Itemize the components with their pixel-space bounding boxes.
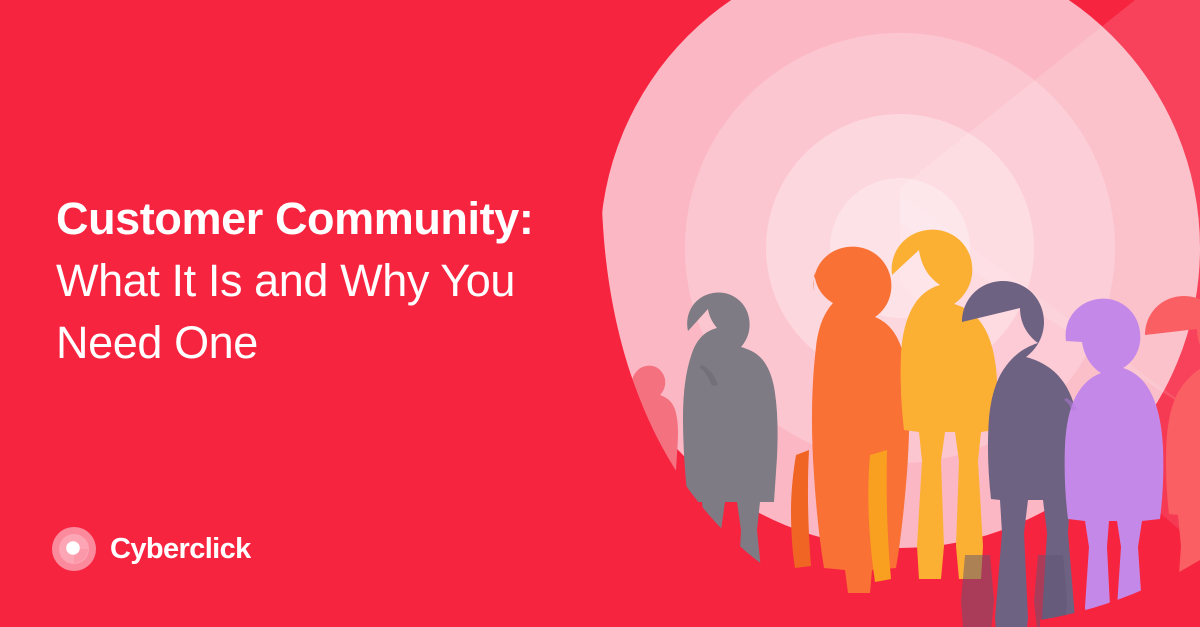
headline-bold: Customer Community: [56, 193, 533, 244]
figure-orange-dress [791, 247, 909, 593]
figure-pink-small [625, 366, 678, 567]
blog-banner: Customer Community: What It Is and Why Y… [0, 0, 1200, 627]
figure-grey-coat [683, 293, 778, 619]
figure-violet-woman [1064, 299, 1163, 627]
page-title: Customer Community: What It Is and Why Y… [56, 188, 566, 374]
cyberclick-logo[interactable]: Cyberclick [52, 527, 251, 571]
community-people-illustration [560, 0, 1200, 627]
cyberclick-circle-icon [52, 527, 96, 571]
brand-name: Cyberclick [110, 533, 251, 566]
headline-regular: What It Is and Why You Need One [56, 255, 515, 368]
people-silhouettes [560, 0, 1200, 627]
